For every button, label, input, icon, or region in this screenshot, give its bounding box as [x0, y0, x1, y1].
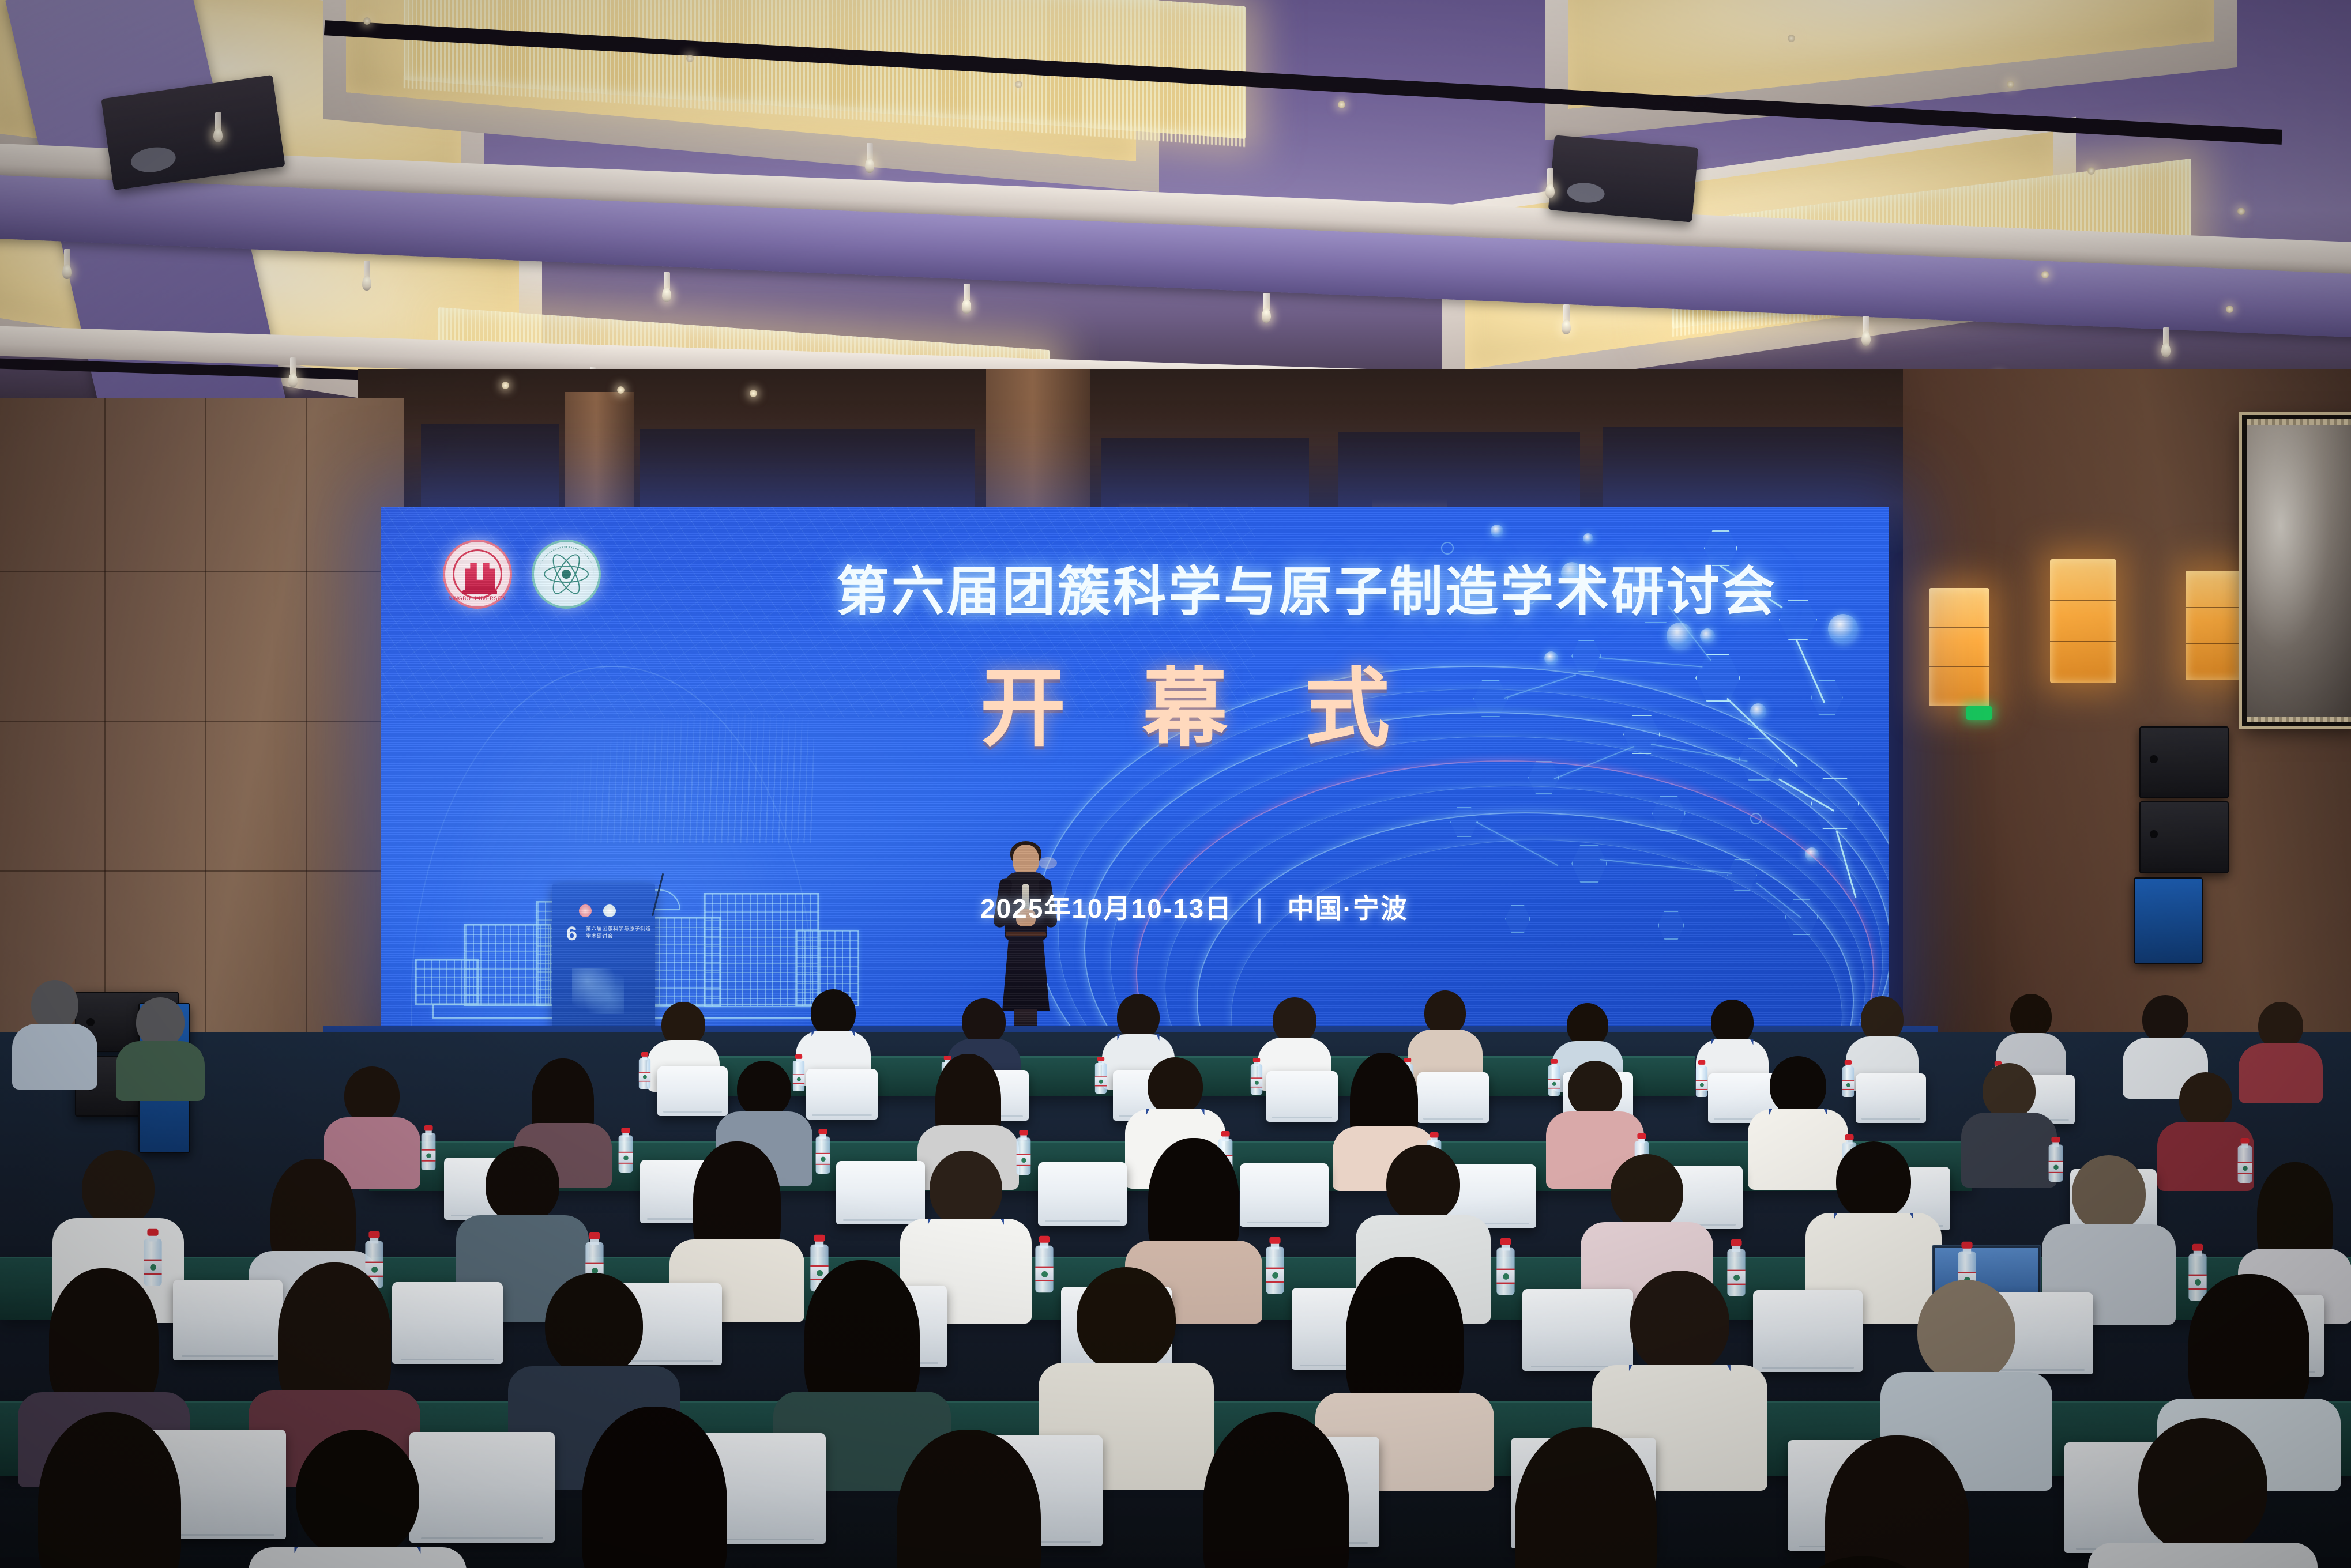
water-bottle [1266, 1237, 1284, 1294]
water-bottle [1095, 1057, 1107, 1094]
track-spotlight [288, 357, 298, 391]
podium-conference-name: 第六届团簇科学与原子制造 学术研讨会 [586, 925, 651, 940]
line-array-speaker-stack [2134, 726, 2237, 968]
podium-society-logo [603, 904, 616, 917]
wall-panel-seam [0, 870, 404, 872]
podium-edition-number: 6 [566, 924, 577, 944]
recessed-downlight [617, 386, 625, 394]
recessed-downlight [2041, 271, 2049, 278]
cluster-science-society-logo [532, 540, 601, 609]
recessed-downlight [502, 382, 509, 389]
audience-floor [0, 1032, 2351, 1568]
podium-university-logo [579, 904, 592, 917]
audience-person [1165, 1412, 1387, 1568]
wall-lantern [1929, 588, 1989, 706]
track-spotlight [1262, 293, 1271, 326]
audience-person [2087, 1418, 2318, 1568]
audience-chair [1753, 1290, 1863, 1372]
wall-panel-seam [0, 721, 404, 722]
recessed-downlight [363, 17, 371, 25]
recessed-downlight [2087, 167, 2095, 175]
audience-person [1707, 1556, 2018, 1568]
recessed-downlight [2237, 208, 2245, 215]
water-bottle [619, 1128, 633, 1173]
wall-lantern [2186, 571, 2240, 680]
audience-chair [1856, 1073, 1926, 1123]
track-spotlight [1545, 168, 1555, 202]
ceremony-headline: 开 幕 式 [980, 639, 1615, 763]
presenter-head [1013, 845, 1039, 876]
water-bottle [816, 1129, 830, 1174]
recessed-downlight [1338, 101, 1345, 108]
audience-chair [806, 1069, 878, 1120]
audience-person [1788, 1435, 2007, 1568]
water-bottle [1496, 1238, 1514, 1295]
ningbo-university-logo: NINGBO UNIVERSITY [443, 540, 512, 609]
audience-person [859, 1430, 1078, 1568]
water-bottle [639, 1052, 650, 1089]
audience-person [12, 980, 98, 1090]
conference-hall-photo: NINGBO UNIVERSITY [0, 0, 2351, 1568]
screen-dot-sweep [456, 613, 814, 843]
track-spotlight [662, 272, 671, 306]
exit-sign-icon [1966, 706, 1992, 720]
podium-logos [579, 904, 616, 917]
recessed-downlight [750, 390, 757, 397]
audience-person [542, 1407, 767, 1568]
track-spotlight [1562, 304, 1571, 338]
led-stage-screen: NINGBO UNIVERSITY [381, 507, 1889, 1035]
track-spotlight [2161, 327, 2171, 361]
event-date-location: 2025年10月10-13日 | 中国·宁波 [980, 888, 1408, 926]
event-date: 2025年10月10-13日 [980, 894, 1232, 924]
track-spotlight [1861, 316, 1871, 349]
audience-chair [1266, 1071, 1338, 1122]
audience-person [1476, 1427, 1695, 1568]
conference-title: 第六届团簇科学与原子制造学术研讨会 [836, 549, 1759, 625]
presenter-belt [1006, 932, 1046, 936]
recessed-downlight [1788, 35, 1795, 42]
water-bottle [1696, 1060, 1707, 1097]
recessed-downlight [2007, 81, 2014, 88]
wall-lantern [2050, 559, 2116, 683]
water-bottle [1251, 1058, 1262, 1095]
date-location-separator: | [1256, 893, 1264, 924]
speaker-podium: 6 第六届团簇科学与原子制造 学术研讨会 [552, 884, 655, 1035]
track-spotlight [962, 284, 971, 317]
audience-person [248, 1430, 467, 1568]
audience-chair [1038, 1162, 1127, 1226]
audience-person [115, 997, 205, 1101]
chinese-landscape-painting [2242, 415, 2351, 726]
track-spotlight [865, 143, 874, 176]
track-spotlight [213, 112, 223, 146]
audience-person [0, 1412, 219, 1568]
recessed-downlight [686, 55, 694, 62]
event-location: 中国·宁波 [1288, 894, 1408, 924]
podium-decoration [572, 968, 624, 1014]
track-spotlight [62, 249, 72, 282]
track-spotlight [362, 261, 371, 294]
recessed-downlight [2226, 306, 2233, 313]
ceiling-projector [1548, 135, 1698, 222]
wall-panel-seam [0, 571, 404, 572]
screen-logos: NINGBO UNIVERSITY [443, 540, 601, 609]
university-logo-text: NINGBO UNIVERSITY [445, 595, 510, 601]
water-bottle [422, 1125, 436, 1170]
recessed-downlight [1015, 81, 1022, 88]
